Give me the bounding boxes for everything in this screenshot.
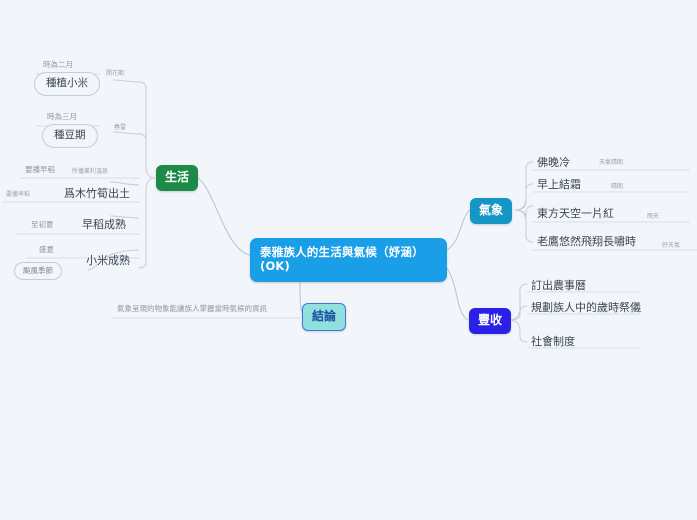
root-node[interactable]: 泰雅族人的生活與氣候（妤涵） (OK) <box>250 238 447 282</box>
leaf-life-6[interactable]: 爲木竹筍出土 <box>60 185 134 204</box>
leaf-life-0[interactable]: 時為二月 <box>40 58 76 72</box>
leaf-harvest-2[interactable]: 社會制度 <box>527 333 579 352</box>
leaf-life-1-note: 開花期 <box>104 68 126 81</box>
root-label-line2: (OK) <box>260 259 437 273</box>
branch-node-life[interactable]: 生活 <box>156 165 198 191</box>
leaf-life-5[interactable]: 要播早稻 <box>4 189 32 202</box>
leaf-life-3[interactable]: 種豆期 <box>42 124 98 148</box>
leaf-life-1[interactable]: 種植小米 <box>34 72 100 96</box>
leaf-life-9[interactable]: 盛夏 <box>36 243 57 257</box>
leaf-life-3-note: 春雷 <box>112 122 128 135</box>
leaf-weather-2[interactable]: 東方天空一片紅 <box>533 205 618 224</box>
root-label-line1: 泰雅族人的生活與氣候（妤涵） <box>260 245 424 259</box>
leaf-life-11[interactable]: 颱風季節 <box>14 262 62 280</box>
leaf-weather-2-note: 雨天 <box>645 211 661 224</box>
leaf-weather-3-note: 好天氣 <box>660 240 682 253</box>
mindmap-canvas[interactable]: 泰雅族人的生活與氣候（妤涵） (OK) 生活 氣象 豐收 結論 時為二月 種植小… <box>0 0 697 520</box>
leaf-life-2[interactable]: 時為三月 <box>44 110 80 124</box>
branch-node-weather[interactable]: 氣象 <box>470 198 512 224</box>
branch-node-conclusion[interactable]: 結論 <box>302 303 346 331</box>
leaf-weather-1-note: 晴朗 <box>609 181 625 194</box>
leaf-harvest-1[interactable]: 規劃族人中的歲時祭儀 <box>527 299 645 318</box>
leaf-life-10[interactable]: 小米成熟 <box>82 252 134 271</box>
leaf-weather-0-note: 天氣晴朗 <box>597 157 625 170</box>
leaf-weather-0[interactable]: 佛晚冷 <box>533 154 574 173</box>
leaf-harvest-0[interactable]: 訂出農事曆 <box>527 277 590 296</box>
leaf-weather-3[interactable]: 老鷹悠然飛翔長嘯時 <box>533 233 640 252</box>
leaf-life-8[interactable]: 早稻成熟 <box>78 216 130 235</box>
leaf-conclusion-note[interactable]: 氣象呈現的物象能讓族人掌握當時氣候的資訊 <box>114 302 270 316</box>
leaf-life-4[interactable]: 要播早稻 <box>22 163 58 177</box>
leaf-life-7[interactable]: 至初夏 <box>28 218 57 232</box>
leaf-life-4-note: 所播果利温泉 <box>70 166 110 179</box>
leaf-weather-1[interactable]: 早上結霜 <box>533 176 585 195</box>
branch-node-harvest[interactable]: 豐收 <box>469 308 511 334</box>
